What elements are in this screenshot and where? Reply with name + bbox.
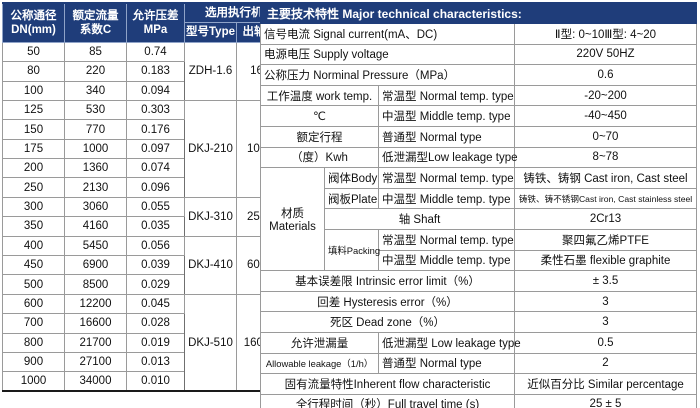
sub-stroke-low-leakage: 低泄漏型Low leakage type bbox=[379, 147, 515, 168]
cell-flow-coefficient: 4160 bbox=[65, 217, 127, 236]
label-nominal-pressure: 公称压力 Norminal Pressure（MPa） bbox=[261, 65, 515, 86]
row-leakage-normal: Allowable leakage（1/h） 普通型 Normal type 2 bbox=[261, 353, 697, 374]
value-nominal-pressure: 0.6 bbox=[515, 65, 697, 86]
cell-flow-coefficient: 340 bbox=[65, 81, 127, 100]
cell-pressure-drop: 0.74 bbox=[127, 42, 185, 61]
cell-pressure-drop: 0.010 bbox=[127, 372, 185, 391]
value-leakage-normal: 2 bbox=[515, 353, 697, 374]
header-cv-line2: 系数C bbox=[80, 24, 111, 36]
left-header-row-1: 公称通径 DN(mm) 额定流量 系数C 允许压差 MPa 选用执行机构 bbox=[3, 3, 295, 23]
header-dp-line1: 允许压差 bbox=[133, 10, 179, 22]
cell-nominal-diameter: 600 bbox=[3, 294, 65, 313]
cell-nominal-diameter: 700 bbox=[3, 314, 65, 333]
cell-pressure-drop: 0.183 bbox=[127, 62, 185, 81]
left-table-body: 50850.74ZDH-1.616NM802200.1831003400.094… bbox=[3, 42, 295, 391]
header-dp-line2: MPa bbox=[144, 24, 168, 36]
cell-nominal-diameter: 300 bbox=[3, 197, 65, 216]
header-dn-line1: 公称通径 bbox=[11, 10, 57, 22]
cell-nominal-diameter: 125 bbox=[3, 100, 65, 119]
header-dn-line2: DN(mm) bbox=[11, 24, 56, 36]
flow-coefficient-table-container: 公称通径 DN(mm) 额定流量 系数C 允许压差 MPa 选用执行机构 型号T… bbox=[0, 0, 256, 408]
cell-nominal-diameter: 50 bbox=[3, 42, 65, 61]
sub-body-normal: 常温型 Normal temp. type bbox=[379, 168, 515, 189]
value-work-temp-middle: -40~450 bbox=[515, 106, 697, 127]
cell-actuator-type: DKJ-410 bbox=[185, 236, 237, 294]
technical-characteristics-table: 主要技术特性 Major technical characteristics: … bbox=[260, 2, 697, 408]
cell-pressure-drop: 0.096 bbox=[127, 178, 185, 197]
label-flow-characteristic: 固有流量特性Inherent flow characteristic bbox=[261, 374, 515, 395]
cell-flow-coefficient: 1000 bbox=[65, 139, 127, 158]
cell-flow-coefficient: 8500 bbox=[65, 275, 127, 294]
cell-flow-coefficient: 5450 bbox=[65, 236, 127, 255]
row-shaft: 轴 Shaft 2Cr13 bbox=[261, 209, 697, 230]
cell-flow-coefficient: 3060 bbox=[65, 197, 127, 216]
table-row: 50850.74ZDH-1.616NM bbox=[3, 42, 295, 61]
spec-sheet-page: 公称通径 DN(mm) 额定流量 系数C 允许压差 MPa 选用执行机构 型号T… bbox=[0, 0, 700, 408]
label-work-temp-line1: 工作温度 work temp. bbox=[261, 85, 379, 106]
cell-flow-coefficient: 770 bbox=[65, 120, 127, 139]
cell-pressure-drop: 0.019 bbox=[127, 333, 185, 352]
cell-nominal-diameter: 450 bbox=[3, 256, 65, 275]
header-nominal-diameter: 公称通径 DN(mm) bbox=[3, 3, 65, 42]
cell-pressure-drop: 0.055 bbox=[127, 197, 185, 216]
header-allowable-pressure-drop: 允许压差 MPa bbox=[127, 3, 185, 42]
sub-packing-normal: 常温型 Normal temp. type bbox=[379, 229, 515, 250]
row-work-temp-middle: ℃ 中温型 Middle temp. type -40~450 bbox=[261, 106, 697, 127]
value-stroke-low-leakage: 8~78 bbox=[515, 147, 697, 168]
cell-nominal-diameter: 175 bbox=[3, 139, 65, 158]
label-materials-line2: Materials bbox=[269, 221, 316, 233]
cell-nominal-diameter: 80 bbox=[3, 62, 65, 81]
row-work-temp-normal: 工作温度 work temp. 常温型 Normal temp. type -2… bbox=[261, 85, 697, 106]
cell-actuator-type: DKJ-310 bbox=[185, 197, 237, 236]
sub-work-temp-normal: 常温型 Normal temp. type bbox=[379, 85, 515, 106]
value-signal-current: Ⅱ型: 0~10Ⅲ型: 4~20 bbox=[515, 24, 697, 45]
cell-pressure-drop: 0.094 bbox=[127, 81, 185, 100]
value-dead-zone: 3 bbox=[515, 312, 697, 333]
header-cv-line1: 额定流量 bbox=[73, 10, 119, 22]
cell-flow-coefficient: 21700 bbox=[65, 333, 127, 352]
cell-actuator-type: DKJ-210 bbox=[185, 100, 237, 197]
label-allowable-leakage-line1: 允许泄漏量 bbox=[261, 332, 379, 353]
cell-nominal-diameter: 400 bbox=[3, 236, 65, 255]
label-dead-zone: 死区 Dead zone（%） bbox=[261, 312, 515, 333]
sub-leakage-low: 低泄漏型 Low leakage type bbox=[379, 332, 515, 353]
cell-pressure-drop: 0.056 bbox=[127, 236, 185, 255]
row-dead-zone: 死区 Dead zone（%） 3 bbox=[261, 312, 697, 333]
row-packing-normal: 填料Packing 常温型 Normal temp. type 聚四氟乙烯PTF… bbox=[261, 229, 697, 250]
value-stroke-normal: 0~70 bbox=[515, 126, 697, 147]
label-allowable-leakage-line2: Allowable leakage（1/h） bbox=[261, 353, 379, 374]
value-supply-voltage: 220V 50HZ bbox=[515, 44, 697, 65]
label-materials-line1: 材质 bbox=[281, 208, 304, 220]
label-signal-current: 信号电流 Signal current(mA、DC) bbox=[261, 24, 515, 45]
label-shaft: 轴 Shaft bbox=[325, 209, 515, 230]
row-leakage-low: 允许泄漏量 低泄漏型 Low leakage type 0.5 bbox=[261, 332, 697, 353]
sub-stroke-normal: 普通型 Normal type bbox=[379, 126, 515, 147]
cell-pressure-drop: 0.176 bbox=[127, 120, 185, 139]
value-work-temp-normal: -20~200 bbox=[515, 85, 697, 106]
header-actuator-type: 型号Type bbox=[185, 23, 237, 42]
cell-flow-coefficient: 530 bbox=[65, 100, 127, 119]
cell-pressure-drop: 0.035 bbox=[127, 217, 185, 236]
row-travel-time: 全行程时间（秒）Full travel time (s) 25 ± 5 bbox=[261, 394, 697, 408]
row-signal-current: 信号电流 Signal current(mA、DC) Ⅱ型: 0~10Ⅲ型: 4… bbox=[261, 24, 697, 45]
cell-pressure-drop: 0.039 bbox=[127, 256, 185, 275]
cell-flow-coefficient: 27100 bbox=[65, 353, 127, 372]
title-row: 主要技术特性 Major technical characteristics: bbox=[261, 3, 697, 24]
sub-work-temp-middle: 中温型 Middle temp. type bbox=[379, 106, 515, 127]
cell-flow-coefficient: 2130 bbox=[65, 178, 127, 197]
label-packing: 填料Packing bbox=[325, 229, 379, 270]
row-rated-stroke-low-leakage: （度）Kwh 低泄漏型Low leakage type 8~78 bbox=[261, 147, 697, 168]
sub-packing-middle: 中温型 Middle temp. type bbox=[379, 250, 515, 271]
value-travel-time: 25 ± 5 bbox=[515, 394, 697, 408]
value-hysteresis: 3 bbox=[515, 291, 697, 312]
row-hysteresis: 回差 Hysteresis error（%） 3 bbox=[261, 291, 697, 312]
label-rated-stroke-line1: 额定行程 bbox=[261, 126, 379, 147]
cell-nominal-diameter: 800 bbox=[3, 333, 65, 352]
header-flow-coefficient: 额定流量 系数C bbox=[65, 3, 127, 42]
cell-pressure-drop: 0.303 bbox=[127, 100, 185, 119]
label-work-temp-line2: ℃ bbox=[261, 106, 379, 127]
cell-pressure-drop: 0.074 bbox=[127, 159, 185, 178]
sub-body-middle: 中温型 Middle temp. type bbox=[379, 188, 515, 209]
sub-leakage-normal: 普通型 Normal type bbox=[379, 353, 515, 374]
technical-characteristics-table-container: 主要技术特性 Major technical characteristics: … bbox=[256, 0, 698, 408]
value-intrinsic-error: ± 3.5 bbox=[515, 271, 697, 292]
row-rated-stroke-normal: 额定行程 普通型 Normal type 0~70 bbox=[261, 126, 697, 147]
cell-nominal-diameter: 250 bbox=[3, 178, 65, 197]
label-materials: 材质 Materials bbox=[261, 168, 325, 271]
cell-actuator-type: DKJ-510 bbox=[185, 294, 237, 391]
flow-coefficient-table: 公称通径 DN(mm) 额定流量 系数C 允许压差 MPa 选用执行机构 型号T… bbox=[2, 2, 295, 392]
left-table-head: 公称通径 DN(mm) 额定流量 系数C 允许压差 MPa 选用执行机构 型号T… bbox=[3, 3, 295, 42]
cell-actuator-type: ZDH-1.6 bbox=[185, 42, 237, 100]
cell-nominal-diameter: 1000 bbox=[3, 372, 65, 391]
label-travel-time: 全行程时间（秒）Full travel time (s) bbox=[261, 394, 515, 408]
row-nominal-pressure: 公称压力 Norminal Pressure（MPa） 0.6 bbox=[261, 65, 697, 86]
label-rated-stroke-line2: （度）Kwh bbox=[261, 147, 379, 168]
cell-nominal-diameter: 350 bbox=[3, 217, 65, 236]
cell-flow-coefficient: 220 bbox=[65, 62, 127, 81]
table-row: 40054500.056DKJ-410600NM bbox=[3, 236, 295, 255]
label-intrinsic-error: 基本误差限 Intrinsic error limit（%） bbox=[261, 271, 515, 292]
label-valve-body: 阀体Body bbox=[325, 168, 379, 189]
value-body-middle: 铸铁、铸不锈钢Cast iron, Cast stainless steel bbox=[515, 188, 697, 209]
cell-flow-coefficient: 34000 bbox=[65, 372, 127, 391]
table-row: 1255300.303DKJ-210100NM bbox=[3, 100, 295, 119]
value-flow-characteristic: 近似百分比 Similar percentage bbox=[515, 374, 697, 395]
row-flow-characteristic: 固有流量特性Inherent flow characteristic 近似百分比… bbox=[261, 374, 697, 395]
cell-flow-coefficient: 1360 bbox=[65, 159, 127, 178]
cell-flow-coefficient: 12200 bbox=[65, 294, 127, 313]
row-body-middle: 阀板Plate 中温型 Middle temp. type 铸铁、铸不锈钢Cas… bbox=[261, 188, 697, 209]
cell-nominal-diameter: 150 bbox=[3, 120, 65, 139]
right-table-body: 主要技术特性 Major technical characteristics: … bbox=[261, 3, 697, 408]
row-body-normal: 材质 Materials 阀体Body 常温型 Normal temp. typ… bbox=[261, 168, 697, 189]
cell-pressure-drop: 0.045 bbox=[127, 294, 185, 313]
cell-nominal-diameter: 900 bbox=[3, 353, 65, 372]
row-intrinsic-error: 基本误差限 Intrinsic error limit（%） ± 3.5 bbox=[261, 271, 697, 292]
value-body-normal: 铸铁、铸钢 Cast iron, Cast steel bbox=[515, 168, 697, 189]
label-valve-plate: 阀板Plate bbox=[325, 188, 379, 209]
value-leakage-low: 0.5 bbox=[515, 332, 697, 353]
cell-pressure-drop: 0.013 bbox=[127, 353, 185, 372]
cell-pressure-drop: 0.028 bbox=[127, 314, 185, 333]
technical-characteristics-title: 主要技术特性 Major technical characteristics: bbox=[261, 3, 697, 24]
cell-nominal-diameter: 200 bbox=[3, 159, 65, 178]
row-supply-voltage: 电源电压 Supply voltage 220V 50HZ bbox=[261, 44, 697, 65]
value-packing-normal: 聚四氟乙烯PTFE bbox=[515, 229, 697, 250]
cell-flow-coefficient: 6900 bbox=[65, 256, 127, 275]
label-hysteresis: 回差 Hysteresis error（%） bbox=[261, 291, 515, 312]
cell-flow-coefficient: 16600 bbox=[65, 314, 127, 333]
cell-flow-coefficient: 85 bbox=[65, 42, 127, 61]
cell-pressure-drop: 0.097 bbox=[127, 139, 185, 158]
cell-nominal-diameter: 500 bbox=[3, 275, 65, 294]
cell-pressure-drop: 0.029 bbox=[127, 275, 185, 294]
label-supply-voltage: 电源电压 Supply voltage bbox=[261, 44, 515, 65]
table-row: 600122000.045DKJ-5101600NM bbox=[3, 294, 295, 313]
table-row: 30030600.055DKJ-310250NM bbox=[3, 197, 295, 216]
value-shaft: 2Cr13 bbox=[515, 209, 697, 230]
value-packing-middle: 柔性石墨 flexible graphite bbox=[515, 250, 697, 271]
cell-nominal-diameter: 100 bbox=[3, 81, 65, 100]
